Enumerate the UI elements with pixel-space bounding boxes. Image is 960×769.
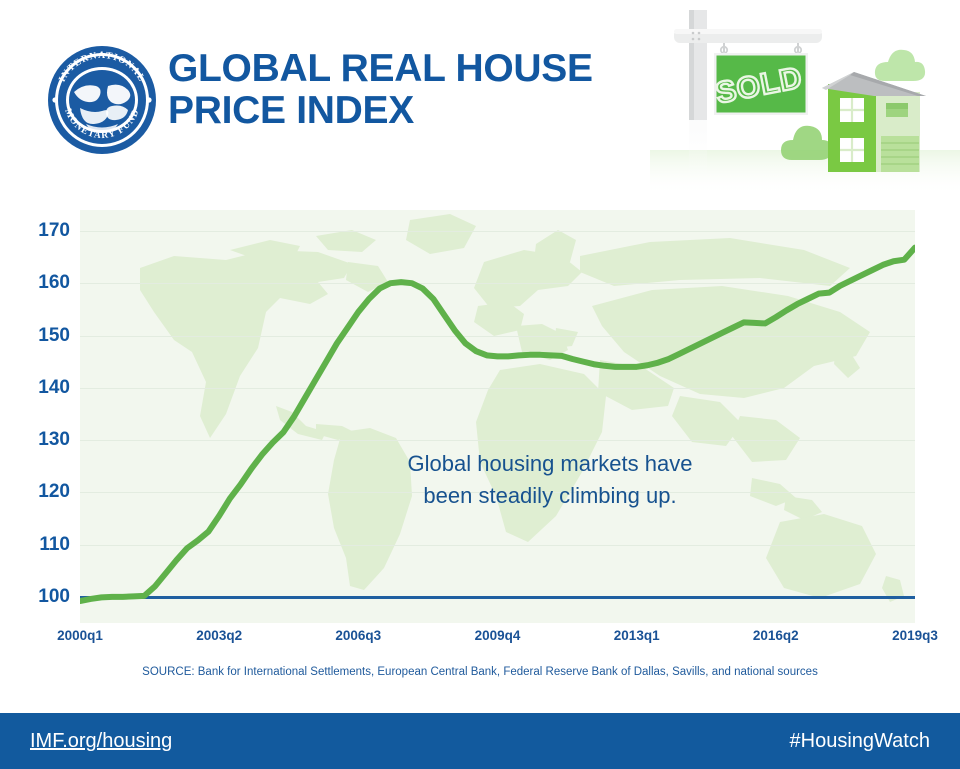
annotation-line-1: Global housing markets have <box>330 448 770 480</box>
title-line-2: PRICE INDEX <box>168 90 638 132</box>
y-axis-tick-130: 130 <box>12 429 70 451</box>
y-axis-labels: 100110120130140150160170 <box>12 210 70 623</box>
x-axis-tick-2003q2: 2003q2 <box>196 628 242 643</box>
x-axis-tick-2019q3: 2019q3 <box>892 628 938 643</box>
line-series <box>80 210 915 623</box>
header: ★ INTERNATIONAL MONETARY FUND GLOBAL REA… <box>0 0 960 200</box>
y-axis-tick-160: 160 <box>12 272 70 294</box>
x-axis-tick-2009q4: 2009q4 <box>475 628 521 643</box>
sold-sign-house-illustration: SOLD <box>650 0 960 196</box>
y-axis-tick-170: 170 <box>12 220 70 242</box>
footer-website-link[interactable]: IMF.org/housing <box>30 730 172 753</box>
x-axis-tick-2000q1: 2000q1 <box>57 628 103 643</box>
y-axis-tick-120: 120 <box>12 481 70 503</box>
title-line-1: GLOBAL REAL HOUSE <box>168 47 593 90</box>
infographic-page: ★ INTERNATIONAL MONETARY FUND GLOBAL REA… <box>0 0 960 769</box>
imf-seal-icon: ★ INTERNATIONAL MONETARY FUND <box>46 44 158 156</box>
y-axis-tick-110: 110 <box>12 534 70 556</box>
plot-area <box>80 210 915 623</box>
x-axis-tick-2016q2: 2016q2 <box>753 628 799 643</box>
footer-hashtag[interactable]: #HousingWatch <box>790 730 930 753</box>
y-axis-tick-150: 150 <box>12 325 70 347</box>
chart-container: 100110120130140150160170 <box>0 196 960 666</box>
page-title: GLOBAL REAL HOUSE PRICE INDEX <box>168 48 638 131</box>
source-note: SOURCE: Bank for International Settlemen… <box>0 666 960 678</box>
annotation-line-2: been steadily climbing up. <box>330 480 770 512</box>
chart-annotation: Global housing markets have been steadil… <box>330 448 770 512</box>
y-axis-tick-100: 100 <box>12 586 70 608</box>
footer-bar: IMF.org/housing #HousingWatch <box>0 713 960 769</box>
x-axis-labels: 2000q12003q22006q32009q42013q12016q22019… <box>80 628 915 654</box>
x-axis-tick-2006q3: 2006q3 <box>335 628 381 643</box>
y-axis-tick-140: 140 <box>12 377 70 399</box>
x-axis-tick-2013q1: 2013q1 <box>614 628 660 643</box>
